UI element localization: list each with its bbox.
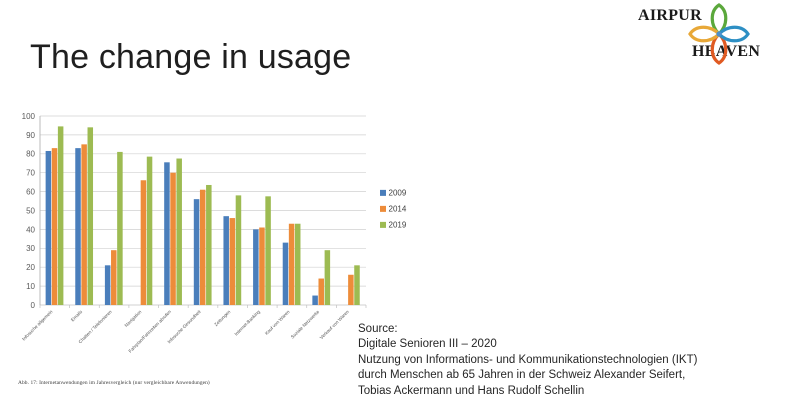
chart-bar [176, 159, 182, 305]
y-axis-tick-label: 10 [26, 282, 35, 291]
source-line: Tobias Ackermann und Hans Rudolf Schelli… [358, 384, 788, 399]
y-axis-tick-label: 0 [31, 301, 36, 310]
x-axis-category-label: Verkauf von Waren [319, 309, 350, 340]
chart-bar [200, 190, 206, 305]
chart-bar [318, 279, 324, 305]
x-axis-category-label: Zeitungen [213, 309, 231, 327]
source-line: durch Menschen ab 65 Jahren in der Schwe… [358, 368, 788, 383]
legend-label: 2019 [389, 220, 407, 229]
chart-bar [230, 218, 236, 305]
chart-bar [117, 152, 123, 305]
chart-bar [111, 250, 117, 305]
x-axis-category-label: Navigation [124, 309, 143, 328]
chart-bar [295, 224, 301, 305]
chart-bar [164, 162, 170, 305]
x-axis-category-label: Infosuche allgemein [21, 309, 54, 342]
chart-bar [206, 185, 212, 305]
chart-bar [105, 265, 111, 305]
chart-bar [348, 275, 354, 305]
legend-swatch [380, 222, 386, 228]
page-title: The change in usage [30, 38, 351, 77]
chart-bar [52, 148, 58, 305]
chart-bar [147, 157, 153, 305]
y-axis-tick-label: 20 [26, 263, 35, 272]
y-axis-tick-label: 80 [26, 150, 35, 159]
legend-swatch [380, 190, 386, 196]
chart-bar [265, 196, 271, 305]
brand-logo: AIRPUR HEAVEN [620, 2, 790, 68]
chart-bar [223, 216, 229, 305]
chart-bar [325, 250, 331, 305]
chart-caption: Abb. 17: Internetanwendungen im Jahresve… [18, 380, 210, 386]
y-axis-tick-label: 100 [22, 112, 36, 121]
x-axis-category-label: Internet-Banking [234, 309, 262, 337]
legend-label: 2014 [389, 204, 407, 213]
source-line: Digitale Senioren III – 2020 [358, 337, 788, 352]
chart-bar [141, 180, 147, 305]
x-axis-category-label: Soziale Netzwerke [290, 309, 321, 340]
chart-bar [194, 199, 200, 305]
chart-bar [75, 148, 81, 305]
chart-bar [46, 151, 52, 305]
x-axis-category-label: Emails [70, 309, 84, 323]
chart-bar [259, 228, 265, 305]
chart-bar [283, 243, 289, 305]
source-block: Source: Digitale Senioren III – 2020 Nut… [358, 322, 788, 399]
y-axis-tick-label: 50 [26, 206, 35, 215]
legend-label: 2009 [389, 188, 407, 197]
chart-bar [58, 126, 64, 305]
chart-bar [170, 173, 176, 305]
flower-icon [688, 3, 750, 65]
chart-bar [312, 296, 318, 305]
y-axis-tick-label: 40 [26, 225, 35, 234]
legend-swatch [380, 206, 386, 212]
chart-bar [289, 224, 295, 305]
x-axis-category-label: Chatten / Telefonieren [78, 309, 114, 345]
chart-bar [253, 229, 259, 305]
y-axis-tick-label: 60 [26, 188, 35, 197]
chart-bar [236, 195, 242, 305]
x-axis-category-label: Infosuche Gesundheit [167, 309, 203, 345]
source-line: Nutzung von Informations- und Kommunikat… [358, 353, 788, 368]
x-axis-category-label: Kauf von Waren [264, 309, 291, 336]
chart-bar [88, 127, 94, 305]
y-axis-tick-label: 70 [26, 169, 35, 178]
y-axis-tick-label: 90 [26, 131, 35, 140]
y-axis-tick-label: 30 [26, 244, 35, 253]
source-line: Source: [358, 322, 788, 337]
chart-bar [81, 144, 87, 305]
chart-bar [354, 265, 360, 305]
